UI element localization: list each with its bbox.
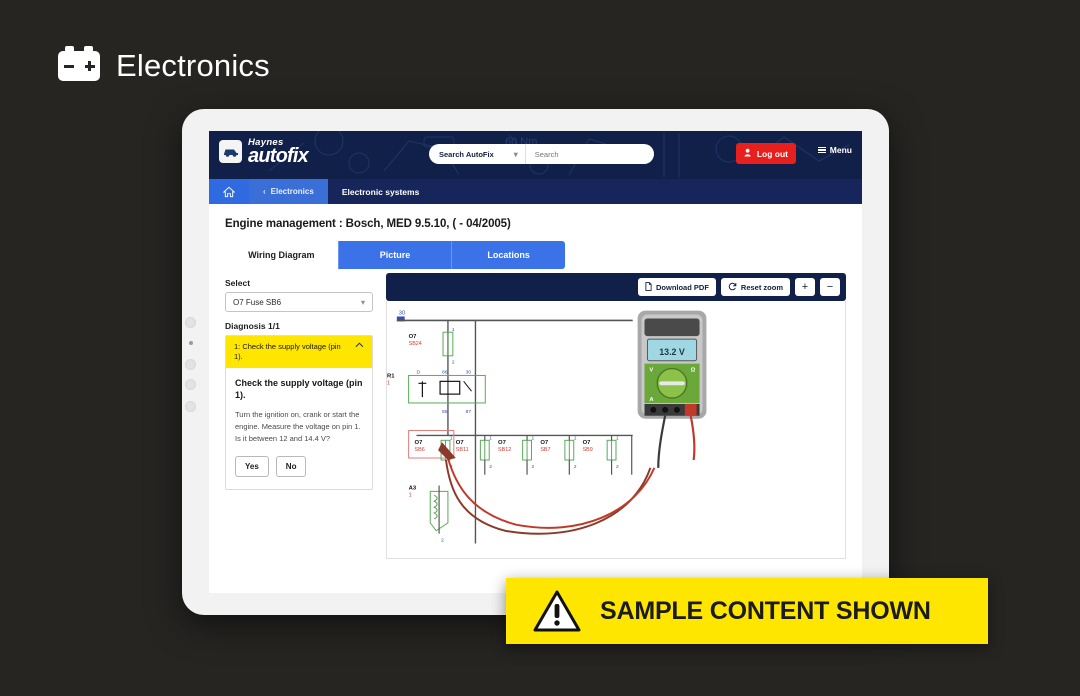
tab-locations[interactable]: Locations: [451, 241, 565, 269]
svg-text:SB9: SB9: [583, 447, 593, 453]
wiring-diagram-svg: 30 O7 SB24 1: [387, 301, 845, 558]
svg-text:1: 1: [409, 492, 412, 498]
page-title: Electronics: [116, 48, 270, 84]
breadcrumb: ‹ Electronics Electronic systems: [209, 179, 862, 204]
refresh-icon: [728, 282, 737, 293]
tablet-frame: 60 Nm Haynes autofix: [182, 109, 889, 615]
svg-text:86: 86: [442, 369, 448, 375]
search-scope-value: Search AutoFix: [439, 150, 494, 159]
chevron-down-icon: ▾: [361, 298, 365, 307]
tablet-button-4[interactable]: [185, 401, 196, 412]
no-button[interactable]: No: [276, 456, 307, 477]
svg-text:1: 1: [489, 435, 492, 441]
tab-picture[interactable]: Picture: [338, 241, 452, 269]
svg-text:SB7: SB7: [540, 447, 550, 453]
multimeter: 13.2 V V Ω A: [638, 311, 707, 468]
menu-label: Menu: [830, 145, 852, 155]
svg-text:30: 30: [466, 369, 472, 375]
svg-text:1: 1: [387, 380, 390, 386]
svg-text:1: 1: [574, 435, 577, 441]
svg-text:O7: O7: [583, 440, 592, 446]
diagnosis-step-text: Turn the ignition on, crank or start the…: [235, 409, 363, 445]
svg-text:2: 2: [452, 360, 455, 366]
svg-text:2: 2: [441, 538, 444, 544]
diagnosis-step-card: 1: Check the supply voltage (pin 1). Che…: [225, 335, 373, 490]
svg-text:Ω: Ω: [691, 368, 696, 374]
sidebar-panel: Select O7 Fuse SB6 ▾ Diagnosis 1/1 1: Ch…: [225, 273, 373, 559]
page-header: Electronics: [58, 48, 270, 84]
breadcrumb-current: Electronic systems: [328, 179, 433, 204]
breadcrumb-previous[interactable]: ‹ Electronics: [249, 179, 328, 204]
app-content: Engine management : Bosch, MED 9.5.10, (…: [209, 204, 862, 593]
battery-icon: [58, 51, 100, 81]
document-title: Engine management : Bosch, MED 9.5.10, (…: [209, 204, 862, 230]
wiring-diagram-canvas[interactable]: 30 O7 SB24 1: [386, 301, 846, 559]
tablet-button-3[interactable]: [185, 379, 196, 390]
svg-text:85: 85: [442, 409, 448, 415]
chevron-left-icon: ‹: [263, 187, 266, 196]
zoom-out-button[interactable]: −: [820, 278, 840, 296]
logout-button[interactable]: Log out: [736, 143, 796, 164]
warning-triangle-icon: [532, 589, 582, 633]
home-icon[interactable]: [209, 179, 249, 204]
svg-text:V: V: [649, 368, 653, 374]
user-icon: [744, 148, 753, 159]
yes-button[interactable]: Yes: [235, 456, 269, 477]
svg-text:30: 30: [399, 311, 406, 317]
chevron-down-icon: ▾: [514, 150, 518, 159]
tablet-screen: 60 Nm Haynes autofix: [209, 131, 862, 593]
logo-product: autofix: [248, 146, 308, 166]
select-label: Select: [225, 278, 373, 288]
svg-text:1: 1: [450, 435, 453, 441]
sample-content-label: SAMPLE CONTENT SHOWN: [600, 597, 931, 626]
svg-text:SB24: SB24: [409, 341, 422, 347]
download-pdf-button[interactable]: Download PDF: [638, 278, 716, 296]
zoom-in-button[interactable]: +: [795, 278, 815, 296]
svg-text:D: D: [416, 369, 420, 375]
app-header: 60 Nm Haynes autofix: [209, 131, 862, 179]
svg-text:1: 1: [616, 435, 619, 441]
search-bar: Search AutoFix ▾: [429, 144, 654, 164]
diagnosis-step-header-label: 1: Check the supply voltage (pin 1).: [234, 342, 349, 362]
svg-text:1: 1: [531, 435, 534, 441]
svg-text:SB11: SB11: [456, 447, 469, 453]
svg-text:A: A: [649, 397, 654, 403]
search-input[interactable]: [526, 150, 654, 159]
svg-text:O7: O7: [409, 334, 418, 340]
reset-zoom-label: Reset zoom: [741, 283, 783, 292]
search-scope-select[interactable]: Search AutoFix ▾: [429, 144, 526, 164]
tablet-button-2[interactable]: [185, 359, 196, 370]
svg-text:O7: O7: [415, 440, 424, 446]
svg-text:2: 2: [489, 464, 492, 470]
svg-text:1: 1: [452, 327, 455, 333]
svg-text:13.2 V: 13.2 V: [659, 347, 685, 357]
content-columns: Select O7 Fuse SB6 ▾ Diagnosis 1/1 1: Ch…: [209, 273, 862, 559]
tab-wiring-diagram[interactable]: Wiring Diagram: [225, 241, 338, 269]
tab-bar: Wiring Diagram Picture Locations: [225, 241, 565, 269]
reset-zoom-button[interactable]: Reset zoom: [721, 278, 790, 296]
chevron-up-icon: [355, 342, 364, 348]
svg-text:O7: O7: [456, 440, 465, 446]
svg-text:SB12: SB12: [498, 447, 511, 453]
screenshot-root: Electronics: [0, 0, 1080, 696]
svg-text:O7: O7: [540, 440, 549, 446]
diagnosis-step-title: Check the supply voltage (pin 1).: [235, 377, 363, 401]
menu-button[interactable]: Menu: [818, 145, 852, 155]
diagnosis-step-body: Check the supply voltage (pin 1). Turn t…: [226, 368, 372, 488]
svg-text:87: 87: [466, 409, 472, 415]
svg-text:A3: A3: [409, 485, 417, 491]
tablet-button-1[interactable]: [185, 317, 196, 328]
file-icon: [645, 282, 652, 293]
svg-text:2: 2: [616, 464, 619, 470]
tablet-indicator-dot: [189, 341, 193, 345]
logout-label: Log out: [757, 149, 788, 159]
diagram-panel: Download PDF Reset zoom + −: [386, 273, 846, 559]
svg-text:2: 2: [574, 464, 577, 470]
breadcrumb-previous-label: Electronics: [271, 187, 314, 196]
download-pdf-label: Download PDF: [656, 283, 709, 292]
svg-text:2: 2: [531, 464, 534, 470]
answer-buttons: Yes No: [235, 456, 363, 477]
diagnosis-step-header[interactable]: 1: Check the supply voltage (pin 1).: [226, 336, 372, 368]
hamburger-icon: [818, 147, 826, 154]
car-logo-icon: [219, 140, 242, 163]
fuse-select[interactable]: O7 Fuse SB6 ▾: [225, 292, 373, 312]
diagram-toolbar: Download PDF Reset zoom + −: [386, 273, 846, 301]
fuse-select-value: O7 Fuse SB6: [233, 298, 281, 307]
app-logo[interactable]: Haynes autofix: [219, 138, 308, 166]
svg-text:R1: R1: [387, 373, 395, 379]
svg-text:SB6: SB6: [415, 447, 425, 453]
sample-content-banner: SAMPLE CONTENT SHOWN: [506, 578, 988, 644]
diagnosis-label: Diagnosis 1/1: [225, 321, 373, 331]
svg-text:O7: O7: [498, 440, 507, 446]
